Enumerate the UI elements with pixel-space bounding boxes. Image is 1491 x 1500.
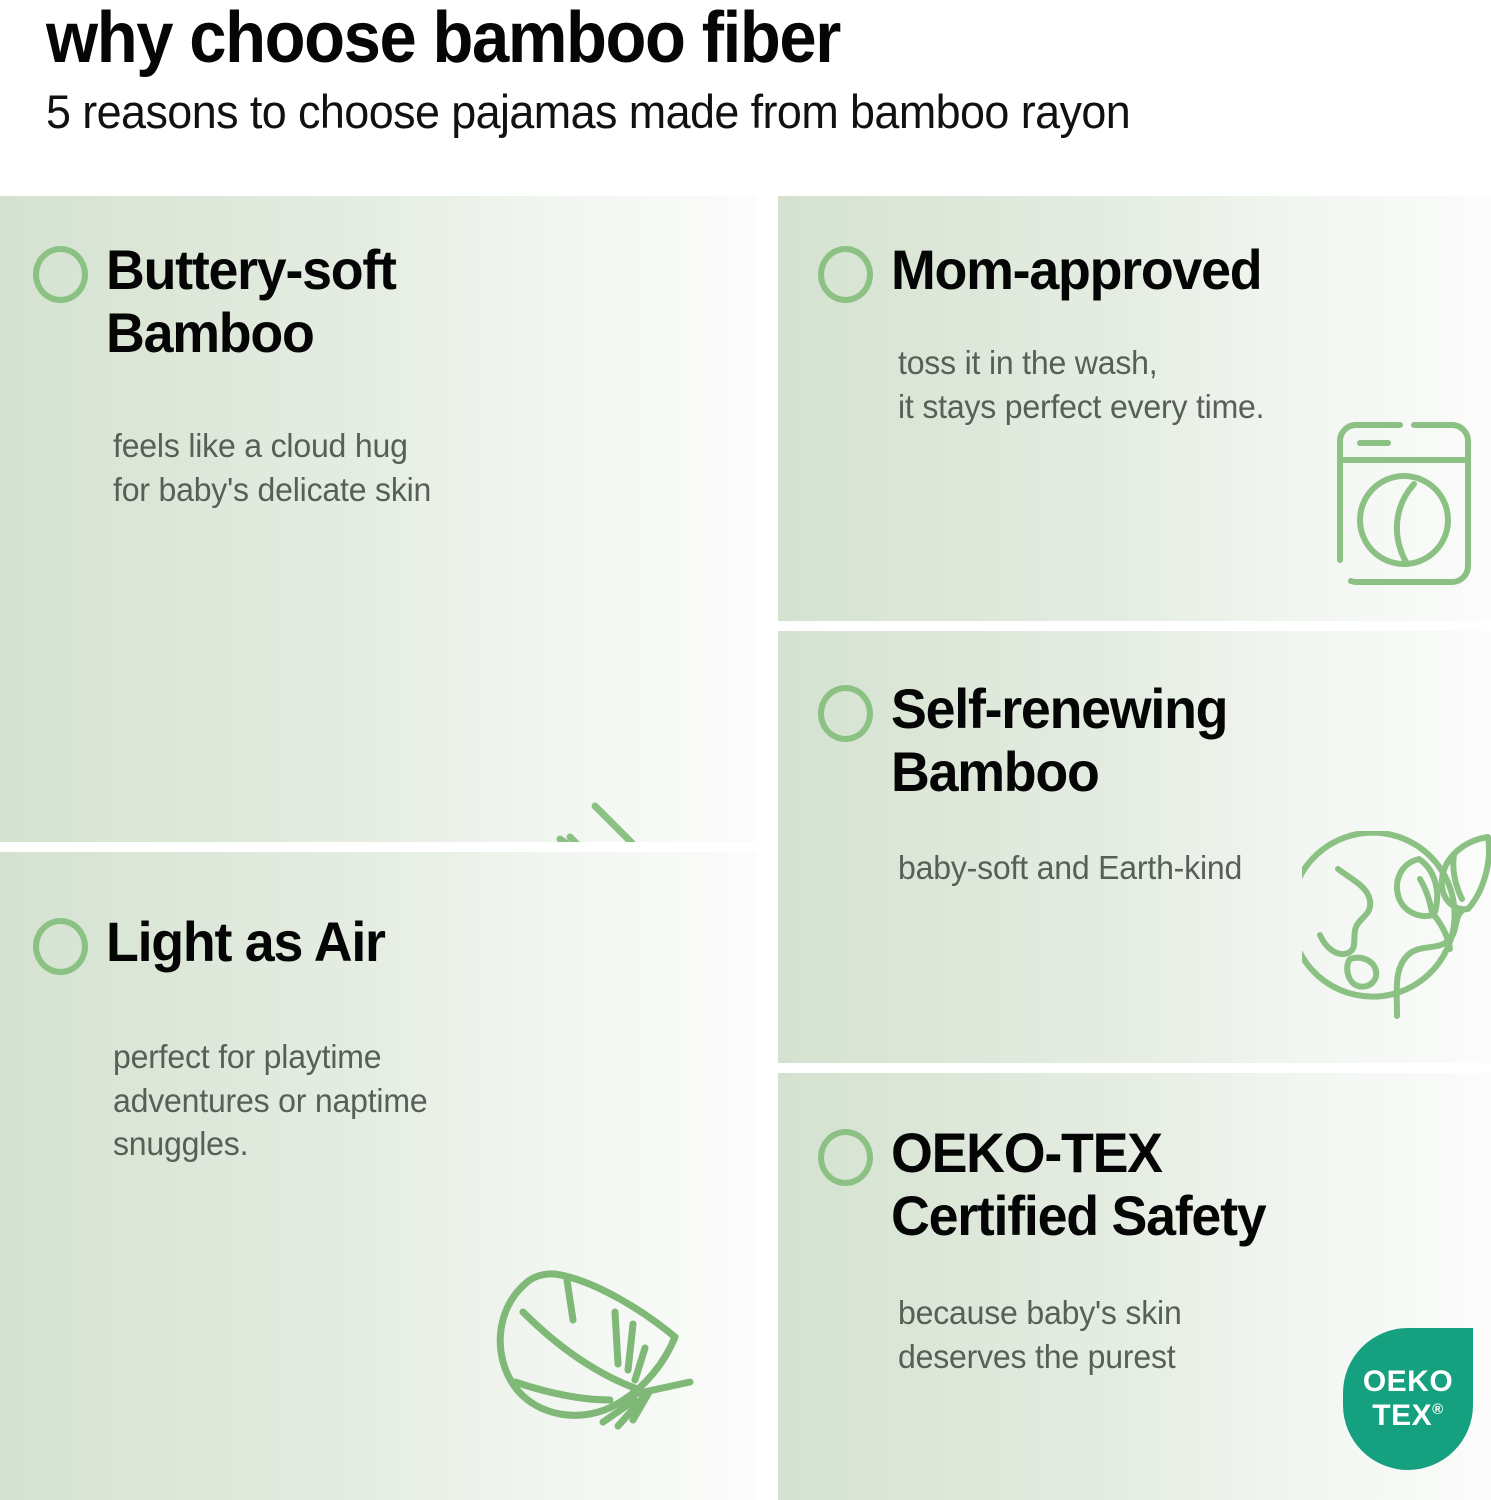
card-header: OEKO-TEX Certified Safety [818,1121,1281,1248]
page-title: why choose bamboo fiber [46,2,840,74]
registered-trademark-icon: ® [1432,1401,1444,1418]
feature-card-buttery-soft-bamboo: Buttery-soft Bamboo feels like a cloud h… [0,196,757,842]
ring-bullet-icon [818,685,873,742]
oeko-badge-line1: OEKO [1363,1367,1453,1397]
earth-with-leaves-icon [1302,831,1491,1031]
card-title: Light as Air [106,910,385,973]
card-title: OEKO-TEX Certified Safety [891,1121,1265,1248]
washing-machine-icon [1326,416,1481,591]
card-description: baby-soft and Earth-kind [898,846,1242,890]
ring-bullet-icon [818,246,873,303]
ring-bullet-icon [818,1129,873,1186]
header: why choose bamboo fiber 5 reasons to cho… [0,0,1491,182]
feather-icon [485,1252,735,1442]
ring-bullet-icon [33,246,88,303]
card-description: toss it in the wash, it stays perfect ev… [898,341,1264,428]
card-description: perfect for playtime adventures or napti… [113,1035,427,1166]
card-title: Self-renewing Bamboo [891,677,1227,804]
feature-card-self-renewing-bamboo: Self-renewing Bamboo baby-soft and Earth… [778,631,1491,1063]
card-header: Light as Air [33,910,396,975]
card-header: Mom-approved [818,238,1277,303]
card-header: Buttery-soft Bamboo [33,238,408,365]
card-header: Self-renewing Bamboo [818,677,1241,804]
oeko-tex-badge: OEKO TEX® [1343,1328,1473,1470]
infographic-page: why choose bamboo fiber 5 reasons to cho… [0,0,1491,1500]
page-subtitle: 5 reasons to choose pajamas made from ba… [46,88,1130,135]
card-title: Mom-approved [891,238,1261,301]
feature-card-mom-approved: Mom-approved toss it in the wash, it sta… [778,196,1491,621]
oeko-badge-text: TEX [1372,1399,1432,1432]
ring-bullet-icon [33,918,88,975]
feature-card-oeko-tex-certified-safety: OEKO-TEX Certified Safety because baby's… [778,1073,1491,1500]
card-description: feels like a cloud hug for baby's delica… [113,424,431,511]
card-title: Buttery-soft Bamboo [106,238,396,365]
card-description: because baby's skin deserves the purest [898,1291,1182,1378]
oeko-badge-line2: TEX® [1372,1401,1443,1431]
hand-touch-fabric-icon [500,791,730,842]
feature-card-light-as-air: Light as Air perfect for playtime advent… [0,852,757,1500]
